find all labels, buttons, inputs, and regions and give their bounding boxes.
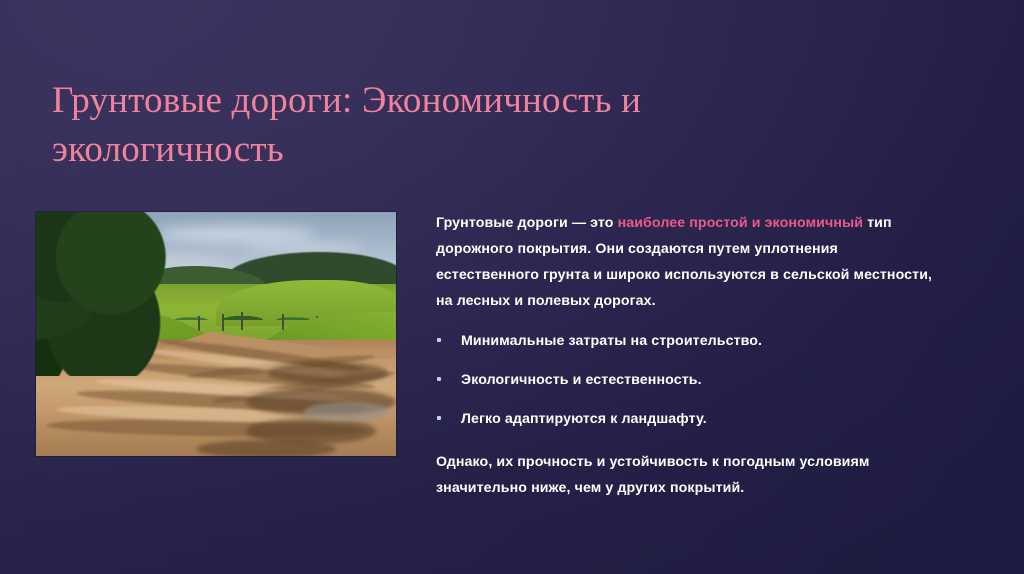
dirt-road-photo xyxy=(36,212,396,456)
fence-post xyxy=(241,312,243,330)
bullet-icon xyxy=(437,338,441,342)
list-item-label: Легко адаптируются к ландшафту. xyxy=(461,411,707,427)
puddle xyxy=(304,402,390,422)
intro-text-before: Грунтовые дороги — это xyxy=(436,215,618,231)
intro-text-highlight: наиболее простой и экономичный xyxy=(618,215,864,231)
bullet-icon xyxy=(437,377,441,381)
slide: Грунтовые дороги: Экономичность и эколог… xyxy=(0,0,1024,574)
fence-post xyxy=(282,314,284,330)
cloud-icon xyxy=(246,242,366,252)
list-item: Легко адаптируются к ландшафту. xyxy=(436,410,936,428)
list-item: Минимальные затраты на строительство. xyxy=(436,332,936,350)
foreground-tree xyxy=(36,212,181,376)
mud-patch xyxy=(196,440,336,456)
mud-patch xyxy=(268,362,388,384)
bullet-icon xyxy=(437,416,441,420)
list-item: Экологичность и естественность. xyxy=(436,371,936,389)
benefits-list: Минимальные затраты на строительство. Эк… xyxy=(436,332,936,428)
content-column: Грунтовые дороги — это наиболее простой … xyxy=(436,210,936,501)
intro-paragraph: Грунтовые дороги — это наиболее простой … xyxy=(436,210,936,314)
closing-paragraph: Однако, их прочность и устойчивость к по… xyxy=(436,449,936,501)
slide-image xyxy=(36,212,396,456)
page-title: Грунтовые дороги: Экономичность и эколог… xyxy=(52,76,812,174)
list-item-label: Экологичность и естественность. xyxy=(461,372,702,388)
list-item-label: Минимальные затраты на строительство. xyxy=(461,333,762,349)
fence-post xyxy=(222,314,224,331)
